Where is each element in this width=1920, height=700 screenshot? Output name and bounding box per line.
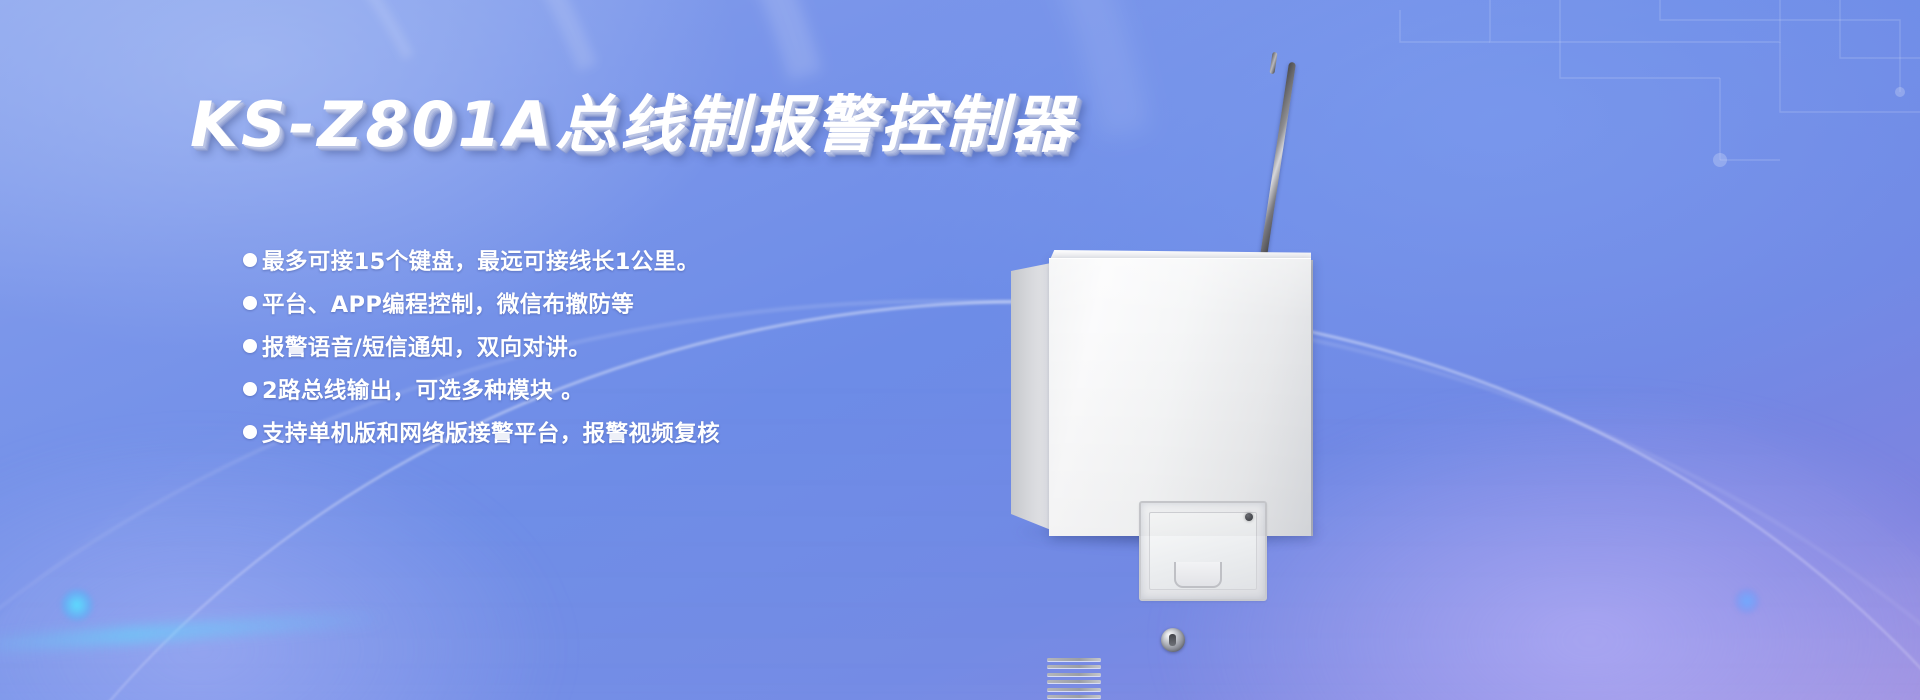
cyan-dot-decoration	[60, 588, 94, 622]
glow-decoration-left	[0, 420, 580, 700]
feature-item: 支持单机版和网络版接警平台，报警视频复核	[243, 410, 963, 453]
feature-text: 最多可接15个键盘，最远可接线长1公里。	[262, 244, 699, 276]
banner-title: KS-Z801A总线制报警控制器	[190, 74, 1075, 164]
vent-line	[1047, 673, 1101, 676]
vent-line	[1047, 658, 1101, 661]
feature-item: 报警语音/短信通知，双向对讲。	[243, 324, 963, 367]
feature-text: 2路总线输出，可选多种模块 。	[262, 373, 584, 405]
feature-text: 支持单机版和网络版接警平台，报警视频复核	[262, 416, 720, 448]
antenna-icon	[1258, 62, 1296, 271]
lock-icon	[1161, 628, 1185, 652]
feature-item: 最多可接15个键盘，最远可接线长1公里。	[243, 238, 963, 281]
bullet-icon	[243, 425, 257, 439]
status-led-icon	[1245, 513, 1253, 521]
feature-text: 平台、APP编程控制，微信布撤防等	[262, 287, 634, 319]
vent-line	[1047, 665, 1101, 668]
enclosure-side-face	[1011, 263, 1051, 530]
bullet-icon	[243, 339, 257, 353]
bullet-icon	[243, 382, 257, 396]
display-window-handle	[1174, 562, 1222, 588]
feature-list: 最多可接15个键盘，最远可接线长1公里。 平台、APP编程控制，微信布撤防等 报…	[243, 238, 963, 453]
product-image	[1005, 60, 1365, 560]
ventilation-louvers	[1047, 658, 1101, 698]
antenna-tip	[1269, 52, 1277, 74]
vent-line	[1047, 688, 1101, 691]
vent-line	[1047, 695, 1101, 698]
enclosure-front-face	[1049, 258, 1311, 536]
feature-item: 2路总线输出，可选多种模块 。	[243, 367, 963, 410]
bullet-icon	[243, 296, 257, 310]
feature-text: 报警语音/短信通知，双向对讲。	[262, 330, 591, 362]
vent-line	[1047, 680, 1101, 683]
bullet-icon	[243, 253, 257, 267]
display-window	[1139, 501, 1267, 601]
cyan-streak-decoration	[0, 609, 390, 655]
feature-item: 平台、APP编程控制，微信布撤防等	[243, 281, 963, 324]
product-banner: KS-Z801A总线制报警控制器 最多可接15个键盘，最远可接线长1公里。 平台…	[0, 0, 1920, 700]
blue-dot-decoration	[1734, 588, 1760, 614]
